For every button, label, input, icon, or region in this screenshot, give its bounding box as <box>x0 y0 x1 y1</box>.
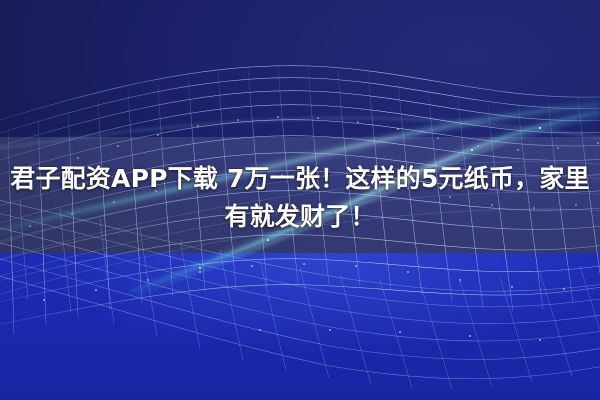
background-lower-glow <box>0 253 600 373</box>
headline-text: 君子配资APP下载 7万一张！这样的5元纸币，家里有就发财了！ <box>0 160 600 236</box>
promo-banner: 君子配资APP下载 7万一张！这样的5元纸币，家里有就发财了！ <box>0 0 600 400</box>
